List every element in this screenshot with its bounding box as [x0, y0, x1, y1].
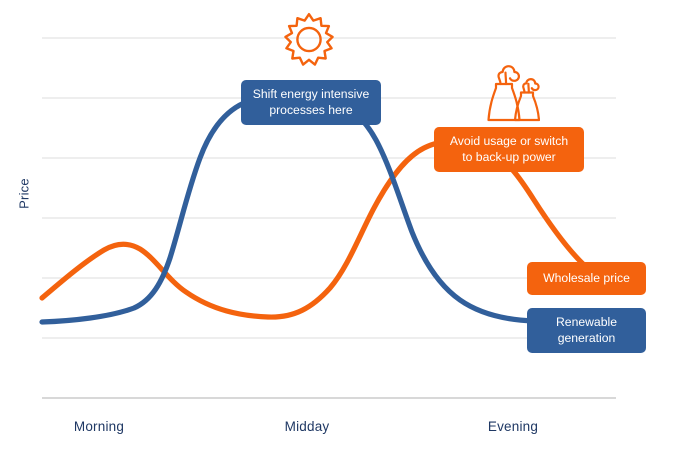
legend-wholesale-price[interactable]: Wholesale price — [527, 262, 646, 295]
legend-renewable-line1: Renewable — [556, 315, 617, 329]
sun-icon — [281, 11, 337, 67]
callout-avoid-line1: Avoid usage or switch — [450, 134, 568, 148]
callout-avoid-usage[interactable]: Avoid usage or switch to back-up power — [434, 127, 584, 172]
power-plant-icon — [470, 58, 540, 124]
chart-canvas: Price Morning Midday Evening — [0, 0, 675, 450]
callout-shift-line1: Shift energy intensive — [253, 87, 370, 101]
legend-wholesale-price-label: Wholesale price — [543, 271, 630, 285]
legend-renewable-line2: generation — [558, 331, 616, 345]
callout-shift-energy[interactable]: Shift energy intensive processes here — [241, 80, 381, 125]
legend-renewable-generation[interactable]: Renewable generation — [527, 308, 646, 353]
icon-layer — [0, 0, 675, 450]
callout-avoid-line2: to back-up power — [462, 150, 556, 164]
callout-shift-line2: processes here — [269, 103, 352, 117]
